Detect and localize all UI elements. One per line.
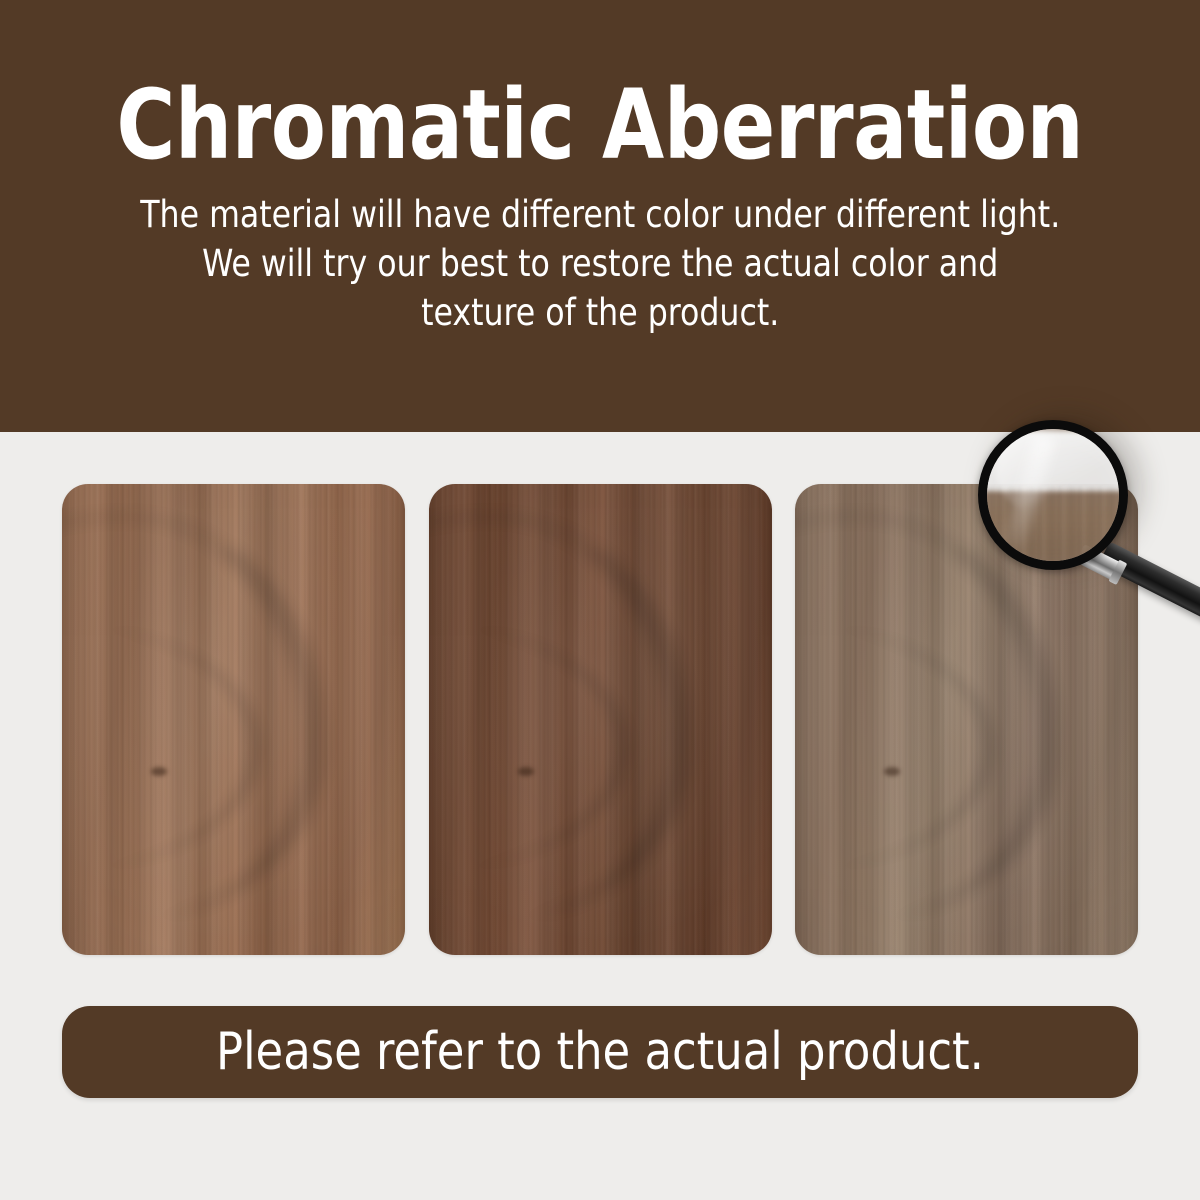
wood-swatch-1 xyxy=(62,484,405,955)
subtitle-line-1: The material will have different color u… xyxy=(140,190,1060,239)
header-banner: Chromatic Aberration The material will h… xyxy=(0,0,1200,432)
wood-swatch-3 xyxy=(795,484,1138,955)
footer-banner-text: Please refer to the actual product. xyxy=(216,1026,984,1078)
wood-vignette xyxy=(429,484,772,955)
footer-banner: Please refer to the actual product. xyxy=(62,1006,1138,1098)
page-subtitle: The material will have different color u… xyxy=(140,190,1060,338)
wood-swatch-2 xyxy=(429,484,772,955)
chromatic-aberration-infographic: Chromatic Aberration The material will h… xyxy=(0,0,1200,1200)
wood-vignette xyxy=(62,484,405,955)
subtitle-line-3: texture of the product. xyxy=(140,288,1060,337)
wood-swatch-row xyxy=(62,484,1138,955)
page-title: Chromatic Aberration xyxy=(117,78,1084,172)
subtitle-line-2: We will try our best to restore the actu… xyxy=(140,239,1060,288)
wood-vignette xyxy=(795,484,1138,955)
